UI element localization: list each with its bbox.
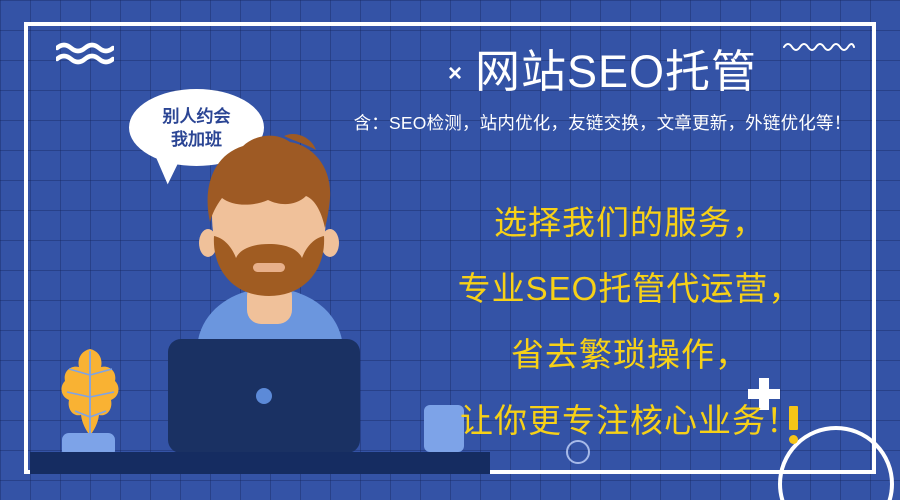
speech-bubble-line-2: 我加班 — [171, 128, 222, 151]
neck-shape — [247, 282, 292, 324]
hair-tuft-shape — [284, 134, 316, 150]
speech-bubble: 别人约会 我加班 — [129, 89, 264, 166]
desk-illustration — [30, 452, 490, 474]
speech-bubble-line-1: 别人约会 — [163, 105, 231, 128]
page-title: ×网站SEO托管 — [330, 44, 875, 102]
face-shape — [212, 160, 326, 294]
beard-shape — [214, 236, 324, 296]
title-text: 网站SEO托管 — [475, 46, 757, 97]
subtitle: 含：SEO检测，站内优化，友链交换，文章更新，外链优化等！ — [330, 110, 875, 136]
ear-left-shape — [199, 229, 217, 257]
mouth-shape — [253, 263, 285, 272]
laptop-logo-icon — [256, 388, 272, 404]
wavy-lines-icon — [56, 42, 114, 66]
seo-hosting-banner: ×网站SEO托管 含：SEO检测，站内优化，友链交换，文章更新，外链优化等！ 选… — [0, 0, 900, 500]
potted-plant-illustration — [55, 345, 125, 440]
copy-line: 专业SEO托管代运营， — [410, 256, 850, 322]
ear-right-shape — [321, 229, 339, 257]
copy-line: 省去繁琐操作， — [410, 322, 850, 388]
shirt-shape — [198, 288, 342, 400]
headline-group: ×网站SEO托管 含：SEO检测，站内优化，友链交换，文章更新，外链优化等！ — [330, 44, 875, 136]
x-mark-icon: × — [448, 60, 463, 87]
copy-line: 选择我们的服务， — [410, 190, 850, 256]
copy-line: 让你更专注核心业务！ — [410, 388, 850, 454]
laptop-shape — [168, 339, 360, 453]
marketing-copy: 选择我们的服务， 专业SEO托管代运营， 省去繁琐操作， 让你更专注核心业务！ — [410, 190, 850, 454]
